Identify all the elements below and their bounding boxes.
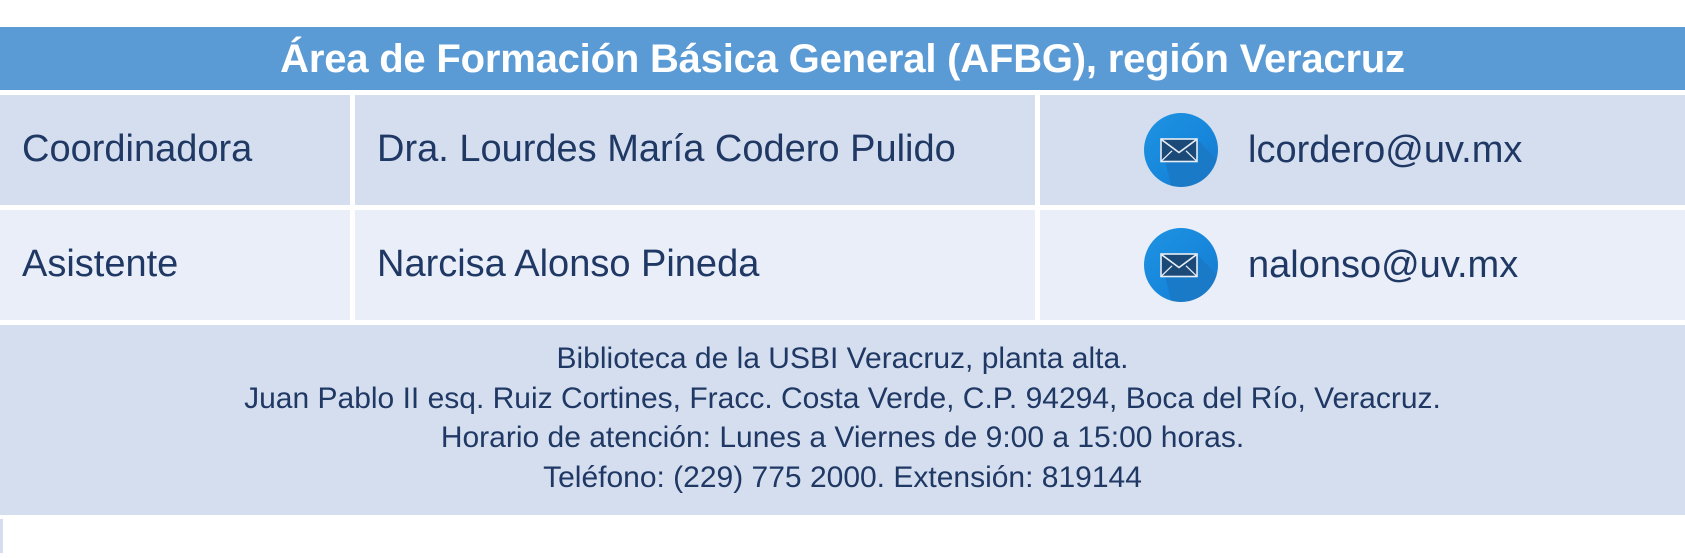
- address-line: Juan Pablo II esq. Ruiz Cortines, Fracc.…: [10, 379, 1675, 419]
- name-cell: Dra. Lourdes María Codero Pulido: [355, 95, 1040, 210]
- role-cell: Asistente: [0, 210, 355, 325]
- address-row: Biblioteca de la USBI Veracruz, planta a…: [0, 325, 1685, 519]
- email-cell: lcordero@uv.mx: [1040, 95, 1685, 210]
- schedule-line: Horario de atención: Lunes a Viernes de …: [10, 418, 1675, 458]
- address-line: Biblioteca de la USBI Veracruz, planta a…: [10, 339, 1675, 379]
- email-address[interactable]: lcordero@uv.mx: [1248, 131, 1522, 169]
- page-title: Área de Formación Básica General (AFBG),…: [0, 38, 1685, 80]
- role-cell: Coordinadora: [0, 95, 355, 210]
- envelope-icon: [1144, 113, 1218, 187]
- table-row: Coordinadora Dra. Lourdes María Codero P…: [0, 95, 1685, 210]
- phone-line: Teléfono: (229) 775 2000. Extensión: 819…: [10, 458, 1675, 498]
- table-row: Asistente Narcisa Alonso Pineda: [0, 210, 1685, 325]
- table-tail-cell: [0, 519, 1685, 553]
- table-title-cell: Área de Formación Básica General (AFBG),…: [0, 27, 1685, 95]
- table-tail-row: [0, 519, 1685, 553]
- address-cell: Biblioteca de la USBI Veracruz, planta a…: [0, 325, 1685, 519]
- envelope-icon: [1144, 228, 1218, 302]
- afbg-contact-table: Área de Formación Básica General (AFBG),…: [0, 27, 1685, 553]
- email-cell: nalonso@uv.mx: [1040, 210, 1685, 325]
- name-cell: Narcisa Alonso Pineda: [355, 210, 1040, 325]
- table-title-row: Área de Formación Básica General (AFBG),…: [0, 27, 1685, 95]
- email-address[interactable]: nalonso@uv.mx: [1248, 246, 1518, 284]
- contact-card: Área de Formación Básica General (AFBG),…: [0, 0, 1685, 558]
